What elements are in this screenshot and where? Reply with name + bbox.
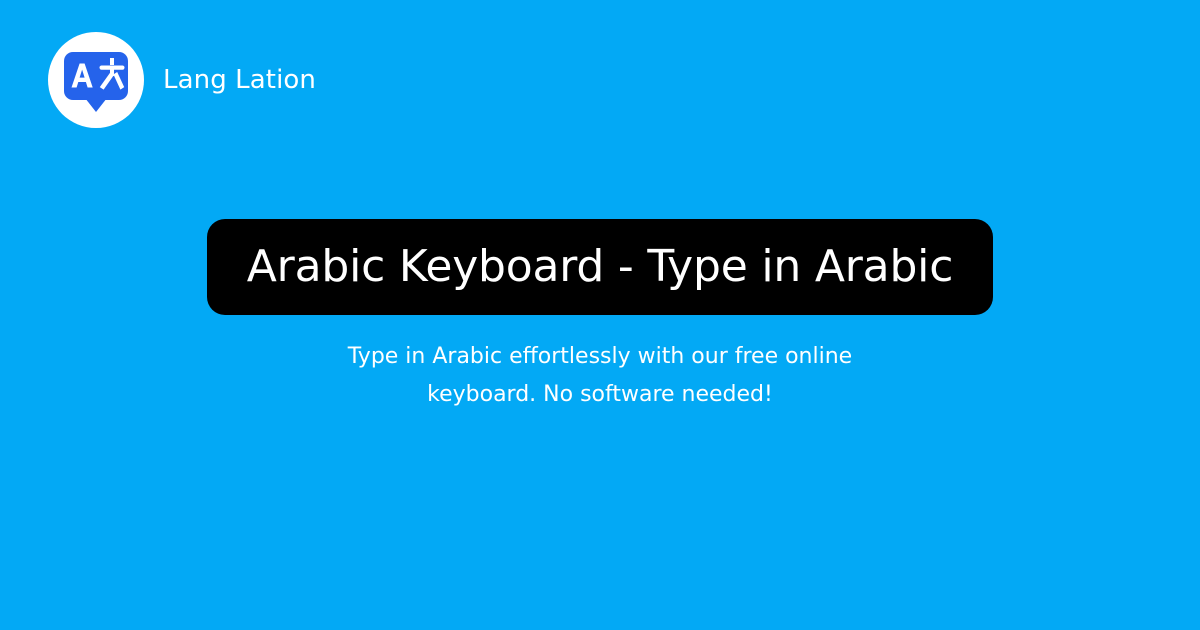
brand-lockup[interactable]: Lang Lation (48, 32, 316, 128)
hero-section: Arabic Keyboard - Type in Arabic Type in… (0, 219, 1200, 414)
logo-badge[interactable] (48, 32, 144, 128)
brand-name: Lang Lation (163, 67, 316, 93)
page-title-plate: Arabic Keyboard - Type in Arabic (207, 219, 993, 315)
page-title: Arabic Keyboard - Type in Arabic (247, 245, 953, 289)
page-subtitle: Type in Arabic effortlessly with our fre… (320, 338, 880, 414)
translate-icon (58, 42, 134, 118)
